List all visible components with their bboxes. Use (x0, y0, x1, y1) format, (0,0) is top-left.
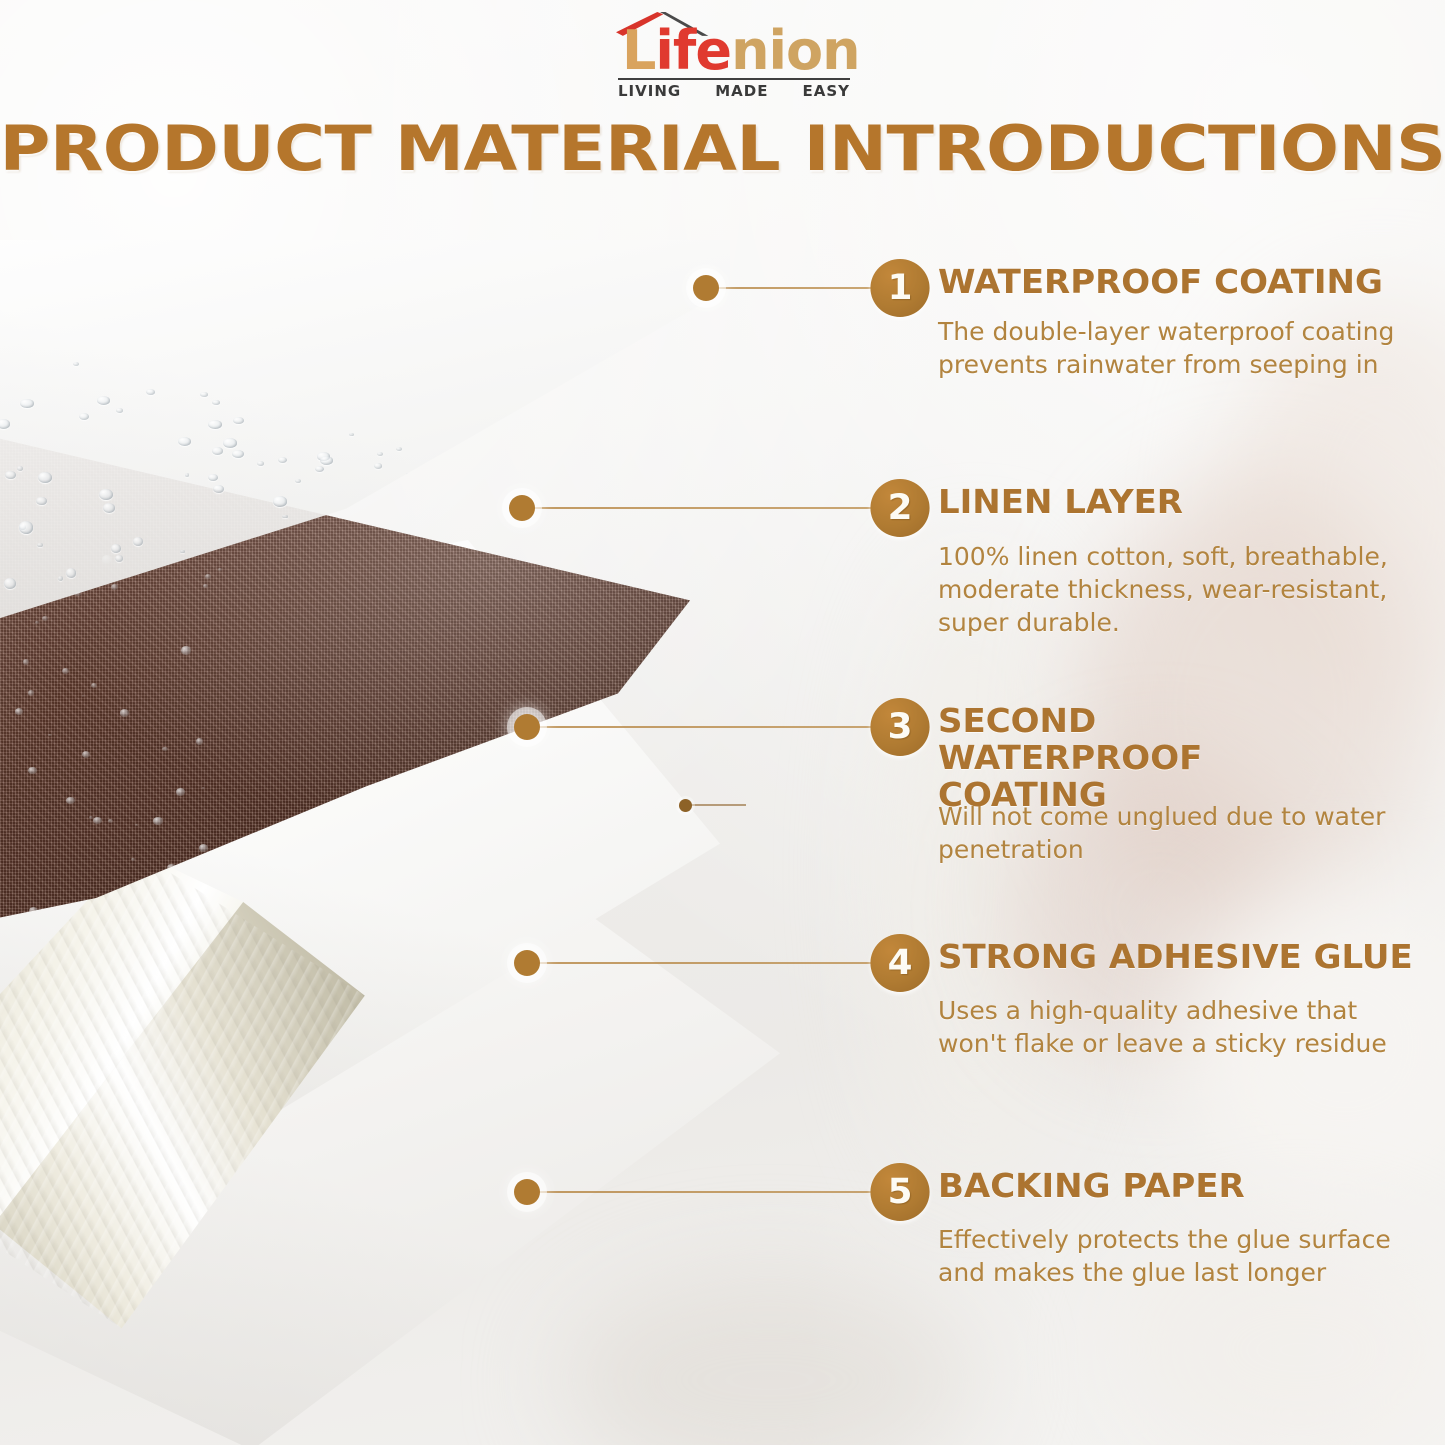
callout-number-3: 3 (870, 698, 929, 756)
water-droplet (153, 817, 163, 825)
water-droplet (120, 709, 129, 717)
water-droplet (111, 544, 121, 553)
callout-title-5: BACKING PAPER (938, 1168, 1245, 1205)
tagline-word-living: LIVING (618, 82, 681, 100)
brand-wordmark: Lifenion (622, 24, 860, 78)
callout-body-5: Effectively protects the glue surface an… (938, 1223, 1408, 1289)
water-droplet (199, 844, 209, 852)
water-droplet (452, 513, 461, 519)
water-droplet (213, 485, 224, 493)
water-droplet (103, 503, 115, 513)
water-droplet (133, 537, 143, 546)
anchor-dot-4 (514, 950, 540, 976)
water-droplet (223, 438, 238, 448)
logo-divider (618, 78, 850, 80)
callout-number-5: 5 (870, 1163, 929, 1221)
water-droplet (66, 568, 76, 577)
brand-tagline: LIVING MADE EASY (618, 82, 850, 100)
water-droplet (212, 400, 220, 405)
water-droplet (93, 817, 102, 824)
water-droplet (116, 408, 124, 413)
water-droplet (208, 420, 222, 429)
water-droplet (463, 472, 467, 474)
water-droplet (374, 463, 382, 469)
water-droplet (131, 858, 135, 862)
water-droplet (73, 362, 79, 366)
water-droplet (5, 471, 16, 480)
leader-line-1 (706, 287, 876, 289)
water-droplet (357, 512, 370, 521)
brand-name-part2: ife (655, 19, 731, 82)
water-droplet (28, 767, 37, 775)
leader-line-5 (533, 1191, 876, 1193)
brand-name-part3: nion (731, 19, 860, 82)
leader-line-2 (528, 507, 876, 509)
anchor-dot-3-secondary (679, 799, 692, 812)
material-layers-illustration (0, 210, 920, 1445)
callout-body-1: The double-layer waterproof coating prev… (938, 315, 1408, 381)
water-droplet (48, 734, 51, 737)
callout-title-2: LINEN LAYER (938, 484, 1183, 521)
water-droplet (396, 447, 402, 451)
water-droplet (349, 433, 355, 437)
water-droplet (257, 461, 264, 466)
callout-number-2: 2 (870, 479, 929, 537)
anchor-dot-1 (693, 275, 719, 301)
water-droplet (178, 437, 191, 446)
callout-title-4: STRONG ADHESIVE GLUE (938, 939, 1413, 976)
water-droplet (19, 521, 34, 534)
water-droplet (445, 534, 451, 539)
water-droplet (205, 574, 211, 579)
water-droplet (315, 466, 325, 473)
water-droplet (20, 399, 34, 409)
callout-title-3: SECOND WATERPROOF COATING (938, 703, 1371, 814)
water-droplet (58, 576, 64, 581)
water-droplet (202, 787, 204, 789)
water-droplet (295, 479, 301, 483)
water-droplet (233, 417, 244, 424)
anchor-dot-5 (514, 1179, 540, 1205)
water-droplet (99, 489, 113, 500)
tagline-word-easy: EASY (802, 82, 850, 100)
water-droplet (320, 456, 333, 465)
water-droplet (212, 447, 223, 455)
water-droplet (35, 621, 39, 624)
water-droplet (91, 683, 97, 688)
water-droplet (135, 824, 138, 827)
callout-body-3: Will not come unglued due to water penet… (938, 800, 1408, 866)
callout-number-4: 4 (870, 934, 929, 992)
anchor-dot-2 (509, 495, 535, 521)
water-droplet (111, 584, 119, 590)
water-droplet (37, 543, 42, 548)
water-droplet (115, 555, 123, 562)
callout-number-1: 1 (870, 259, 929, 317)
water-droplet (79, 413, 89, 420)
water-droplet (97, 396, 110, 405)
callout-title-1: WATERPROOF COATING (938, 264, 1383, 301)
water-droplet (28, 690, 35, 696)
water-droplet (273, 496, 288, 507)
water-droplet (203, 584, 208, 589)
water-droplet (23, 659, 29, 664)
water-droplet (15, 708, 24, 715)
water-droplet (232, 450, 244, 458)
water-droplet (176, 788, 186, 796)
water-droplet (38, 472, 53, 484)
water-droplet (181, 646, 191, 654)
anchor-dot-3 (514, 714, 540, 740)
water-droplet (440, 507, 447, 512)
water-droplet (406, 473, 410, 476)
water-droplet (282, 515, 287, 519)
water-droplet (146, 389, 155, 395)
water-droplet (82, 695, 84, 697)
water-droplet (185, 473, 190, 477)
water-droplet (278, 457, 287, 463)
water-droplet (377, 452, 383, 456)
water-droplet (218, 568, 222, 571)
water-droplet (196, 738, 204, 745)
water-droplet (4, 578, 16, 589)
water-droplet (208, 474, 218, 482)
water-droplet (42, 616, 48, 621)
infographic-canvas: Lifenion LIVING MADE EASY PRODUCT MATERI… (0, 0, 1445, 1445)
leader-line-3-secondary (690, 804, 746, 806)
water-droplet (0, 419, 10, 429)
water-droplet (36, 497, 47, 506)
water-droplet (66, 797, 75, 805)
water-droplet (405, 474, 418, 482)
water-droplet (200, 392, 208, 397)
page-title: PRODUCT MATERIAL INTRODUCTIONS (0, 112, 1445, 185)
water-droplet (108, 819, 113, 823)
leader-line-4 (533, 962, 876, 964)
water-droplet (17, 466, 24, 471)
water-droplet (162, 747, 168, 752)
tagline-word-made: MADE (715, 82, 768, 100)
leader-line-3 (533, 726, 876, 728)
callout-body-4: Uses a high-quality adhesive that won't … (938, 994, 1408, 1060)
brand-logo: Lifenion LIVING MADE EASY (600, 6, 865, 101)
brand-name-part1: L (622, 19, 655, 82)
water-droplet (180, 550, 185, 554)
water-droplet (82, 751, 90, 758)
water-droplet (62, 668, 69, 674)
callout-body-2: 100% linen cotton, soft, breathable, mod… (938, 540, 1408, 639)
